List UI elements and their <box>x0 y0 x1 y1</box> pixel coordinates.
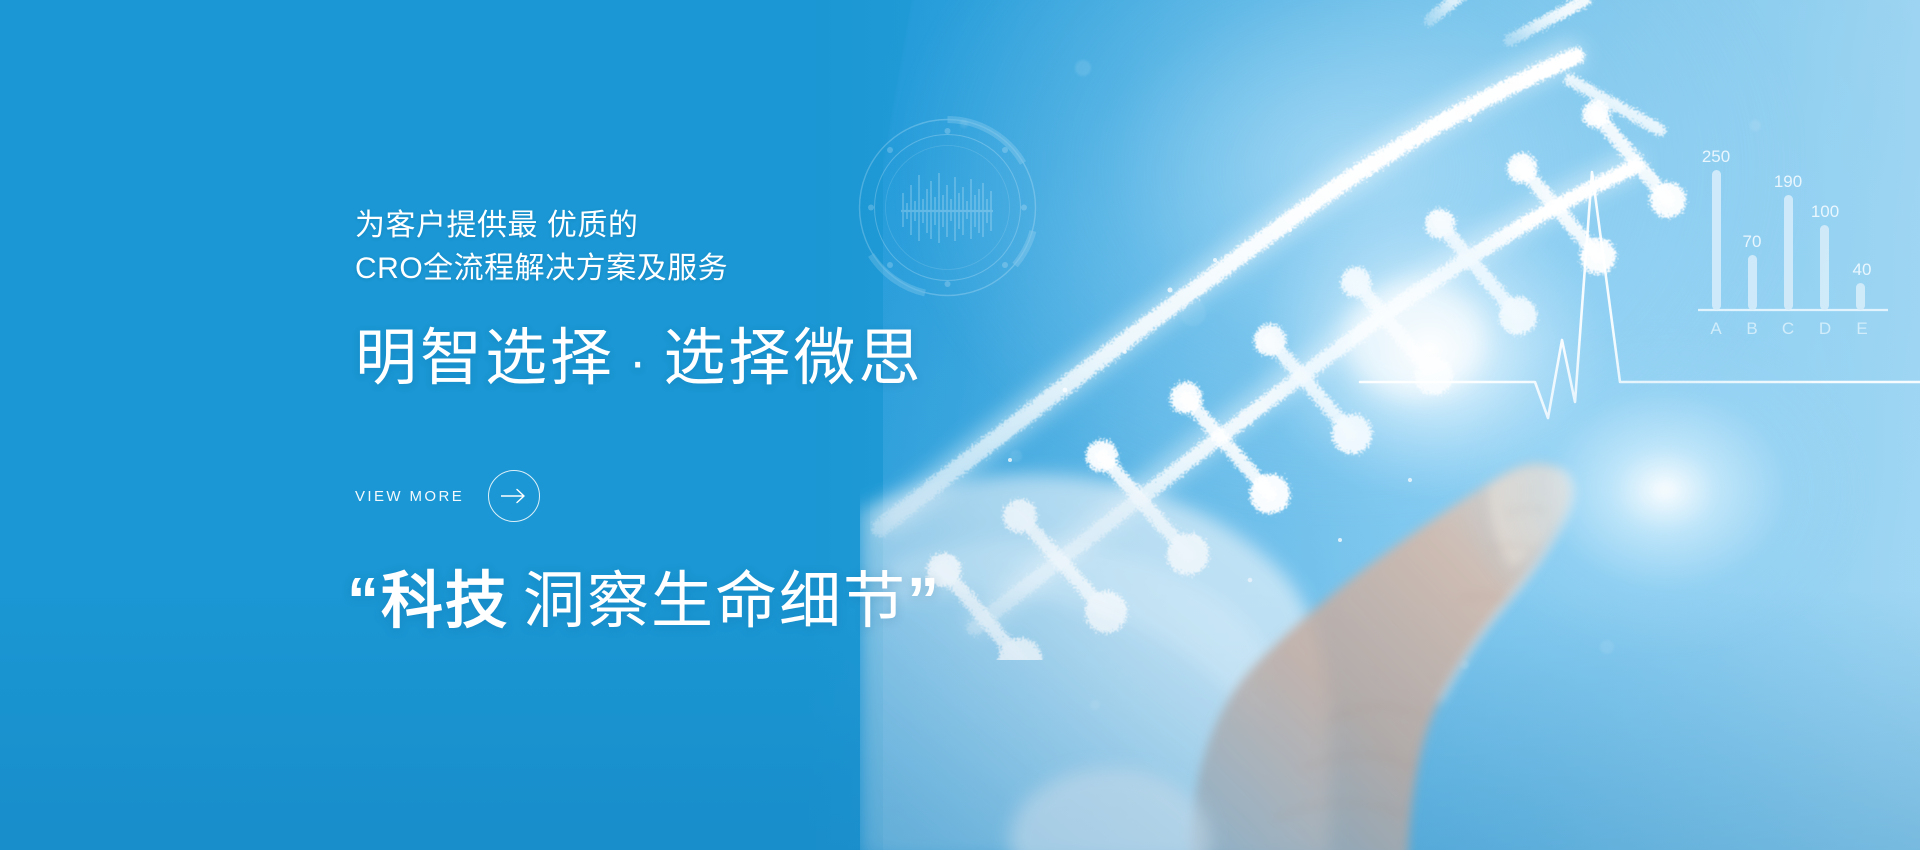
quote-body: 洞察生命细节 <box>509 567 907 636</box>
hero-quote: “科技洞察生命细节” <box>347 565 941 637</box>
hero-banner: 250 70 190 100 40 A B C D E 为客户提供最 优质的 <box>0 0 1920 850</box>
chart-value-label: 40 <box>1853 260 1872 279</box>
chart-value-label: 70 <box>1743 232 1762 251</box>
arrow-right-icon[interactable] <box>488 470 540 522</box>
chart-bars <box>1712 170 1865 310</box>
headline-separator: · <box>615 333 663 391</box>
quote-open-mark: “ <box>347 564 381 636</box>
core-flare-glow <box>1455 320 1875 660</box>
bokeh-dot <box>1750 120 1761 131</box>
hero-subheading: 为客户提供最 优质的 CRO全流程解决方案及服务 <box>355 205 728 290</box>
view-more-label: VIEW MORE <box>355 488 464 505</box>
chart-value-label: 190 <box>1774 172 1802 191</box>
quote-close-mark: ” <box>907 564 941 636</box>
headline-part-2: 选择微思 <box>663 324 923 393</box>
headline-part-1: 明智选择 <box>355 324 615 393</box>
chart-value-label: 100 <box>1811 202 1839 221</box>
hero-headline: 明智选择·选择微思 <box>355 325 923 393</box>
subheading-line-2: CRO全流程解决方案及服务 <box>355 248 728 291</box>
bar-chart: 250 70 190 100 40 A B C D E <box>1698 147 1888 338</box>
chart-value-label: 250 <box>1702 147 1730 166</box>
quote-emphasis: 科技 <box>381 567 509 636</box>
subheading-line-1: 为客户提供最 优质的 <box>355 205 728 248</box>
view-more-button[interactable]: VIEW MORE <box>355 470 540 522</box>
hero-copy: 为客户提供最 优质的 CRO全流程解决方案及服务 明智选择·选择微思 VIEW … <box>355 0 1205 850</box>
